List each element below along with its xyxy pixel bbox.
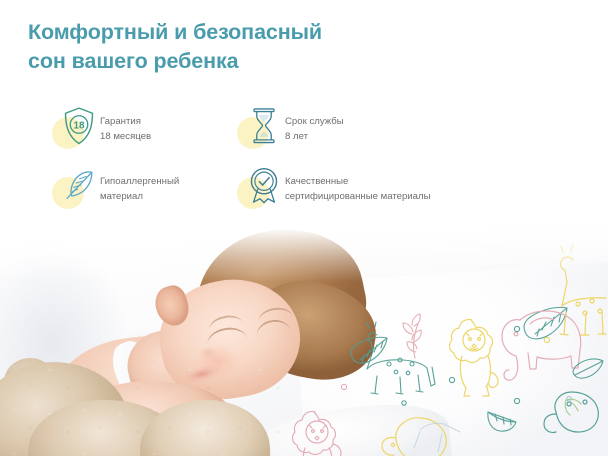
feature-guarantee-icon-wrap: 18 [52, 104, 98, 150]
hero-photo-inner [0, 212, 608, 456]
hero-photo [0, 212, 608, 456]
feature-service-life-line-2: 8 лет [285, 129, 344, 144]
feature-hypoallergenic-icon-wrap [52, 164, 98, 210]
shield-18-icon: 18 [60, 105, 98, 147]
page-title-line-1: Комфортный и безопасный [28, 18, 448, 47]
feather-icon [60, 165, 98, 207]
feature-service-life-line-1: Срок службы [285, 116, 344, 127]
feature-certified: Качественные сертифицированные материалы [237, 164, 572, 212]
feature-guarantee-line-2: 18 месяцев [100, 129, 151, 144]
feature-certified-text: Качественные сертифицированные материалы [285, 164, 430, 204]
feature-hypoallergenic-text: Гипоаллергенный материал [100, 164, 179, 204]
feature-service-life-icon-wrap [237, 104, 283, 150]
page-title: Комфортный и безопасный сон вашего ребен… [28, 18, 448, 76]
feature-list: 18 Гарантия 18 месяцев [52, 104, 572, 212]
feature-hypoallergenic-line-2: материал [100, 189, 179, 204]
feature-guarantee-text: Гарантия 18 месяцев [100, 104, 151, 144]
hourglass-icon [245, 105, 283, 147]
feature-hypoallergenic: Гипоаллергенный материал [52, 164, 237, 212]
feature-guarantee-line-1: Гарантия [100, 116, 141, 127]
feature-row-2: Гипоаллергенный материал [52, 164, 572, 212]
feature-row-1: 18 Гарантия 18 месяцев [52, 104, 572, 152]
feature-service-life: Срок службы 8 лет [237, 104, 572, 152]
page-title-line-2: сон вашего ребенка [28, 47, 448, 76]
feature-guarantee: 18 Гарантия 18 месяцев [52, 104, 237, 152]
promo-banner: Комфортный и безопасный сон вашего ребен… [0, 0, 608, 456]
award-check-icon [245, 165, 283, 207]
feature-service-life-text: Срок службы 8 лет [285, 104, 344, 144]
feature-certified-line-2: сертифицированные материалы [285, 189, 430, 204]
teddy-bear-fur-texture [0, 358, 290, 456]
feature-certified-line-1: Качественные [285, 176, 348, 187]
feature-certified-icon-wrap [237, 164, 283, 210]
shield-badge-number: 18 [73, 120, 85, 131]
feature-hypoallergenic-line-1: Гипоаллергенный [100, 176, 179, 187]
